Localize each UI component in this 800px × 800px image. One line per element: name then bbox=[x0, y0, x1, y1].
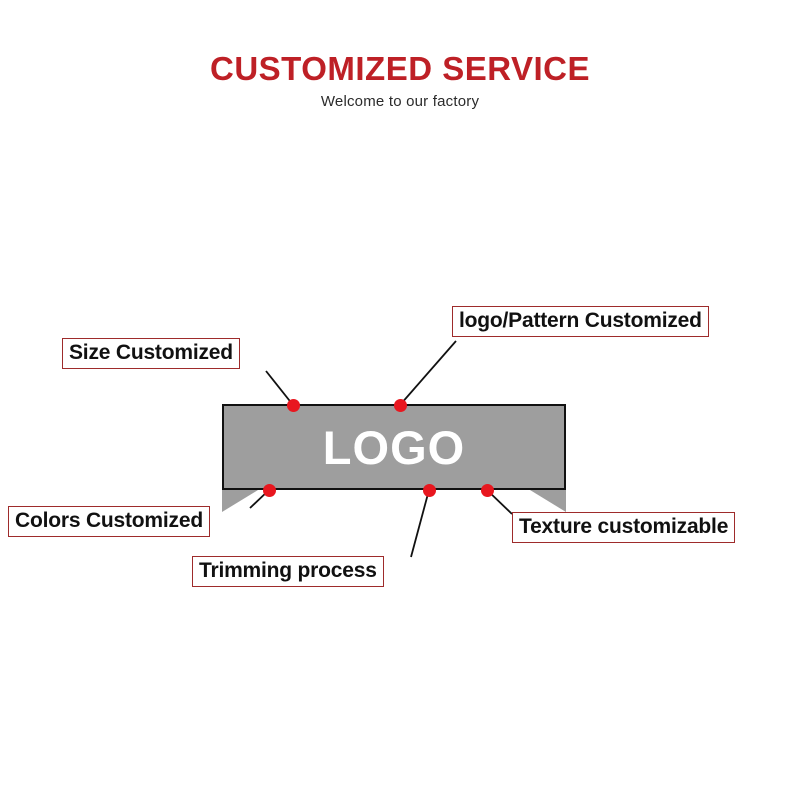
anchor-dot-colors[interactable] bbox=[263, 484, 276, 497]
callout-texture-customizable[interactable]: Texture customizable bbox=[512, 512, 735, 543]
anchor-dot-trimming[interactable] bbox=[423, 484, 436, 497]
anchor-dot-size[interactable] bbox=[287, 399, 300, 412]
anchor-dot-texture[interactable] bbox=[481, 484, 494, 497]
diagram-stage: LOGO Size Customized logo/Pattern Custom… bbox=[0, 0, 800, 800]
anchor-dot-logo[interactable] bbox=[394, 399, 407, 412]
leader-line-logo bbox=[400, 341, 456, 405]
callout-logo-pattern-customized[interactable]: logo/Pattern Customized bbox=[452, 306, 709, 337]
ribbon-tail-left-icon bbox=[222, 490, 258, 512]
leader-line-trimming bbox=[411, 490, 429, 557]
callout-trimming-process[interactable]: Trimming process bbox=[192, 556, 384, 587]
product-logo-text: LOGO bbox=[224, 406, 564, 488]
callout-size-customized[interactable]: Size Customized bbox=[62, 338, 240, 369]
product-band: LOGO bbox=[222, 404, 566, 490]
promo-graphic-canvas: CUSTOMIZED SERVICE Welcome to our factor… bbox=[0, 0, 800, 800]
ribbon-tail-right-icon bbox=[530, 490, 566, 512]
callout-colors-customized[interactable]: Colors Customized bbox=[8, 506, 210, 537]
